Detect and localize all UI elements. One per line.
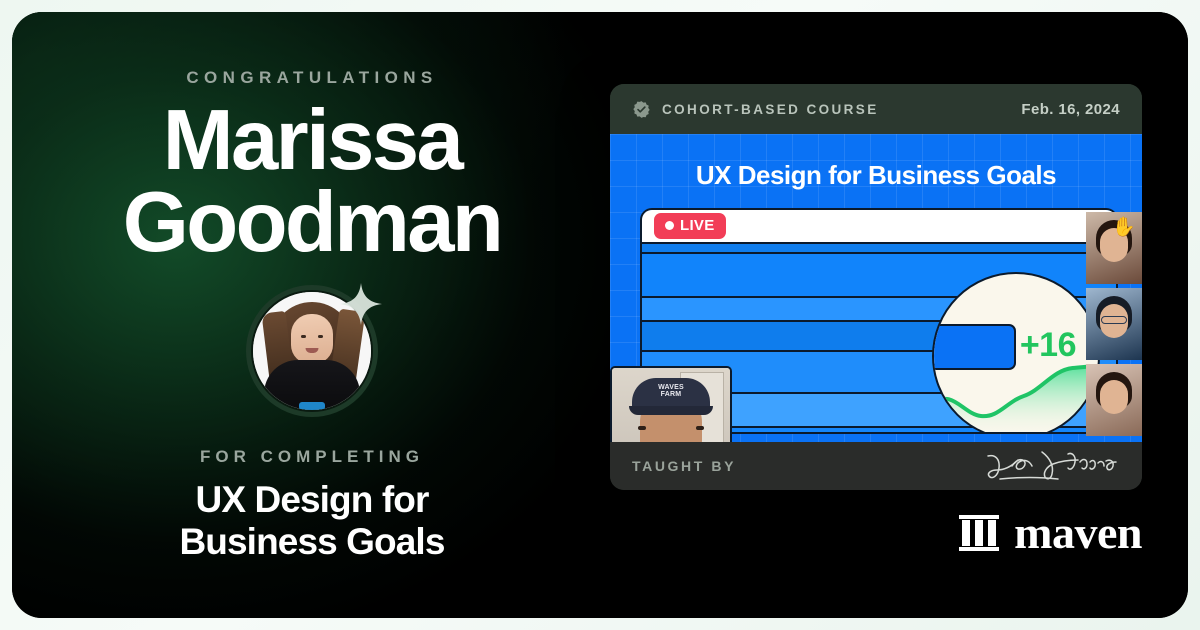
- course-screen-illustration: UX Design for Business Goals LIVE: [610, 134, 1142, 442]
- instructor-cap-brim: [629, 406, 713, 415]
- raised-hand-icon: ✋: [1112, 218, 1136, 237]
- maven-logo: maven: [958, 510, 1142, 556]
- cap-text-line2: FARM: [661, 391, 682, 398]
- recipient-name: Marissa Goodman: [123, 100, 501, 263]
- avatar-face: [291, 314, 333, 364]
- card-footer: Taught By Joe Formica: [610, 442, 1142, 490]
- outer-frame: Congratulations Marissa Goodman: [0, 0, 1200, 630]
- avatar-accent: [299, 402, 325, 410]
- screen-course-title: UX Design for Business Goals: [610, 160, 1142, 191]
- course-title-line2: Business Goals: [179, 521, 444, 563]
- participant-tile: [1086, 288, 1142, 360]
- participant-face: [1100, 380, 1128, 414]
- content-bar: [642, 244, 1116, 254]
- live-dot-icon: [665, 221, 674, 230]
- course-title: UX Design for Business Goals: [179, 479, 444, 563]
- live-badge: LIVE: [654, 213, 726, 239]
- growth-wave-chart: [934, 360, 1098, 434]
- instructor-signature: Joe Formica: [980, 446, 1120, 486]
- participant-tiles: ✋: [1086, 212, 1142, 440]
- congratulations-kicker: Congratulations: [186, 68, 437, 88]
- cohort-based-course-label: Cohort-Based Course: [662, 102, 879, 117]
- instructor-eye-right: [696, 426, 704, 430]
- instructor-eye-left: [638, 426, 646, 430]
- meeting-toolbar: LIVE: [642, 210, 1116, 244]
- certificate-stage: Congratulations Marissa Goodman: [12, 12, 1188, 618]
- avatar-eye-left: [301, 335, 306, 338]
- attendee-overflow-circle: +16: [932, 272, 1100, 434]
- for-completing-label: For Completing: [200, 447, 424, 467]
- course-preview-card: Cohort-Based Course Feb. 16, 2024 UX Des…: [610, 84, 1142, 490]
- maven-wordmark: maven: [1014, 510, 1142, 556]
- instructor-cap-text: WAVES FARM: [658, 384, 684, 398]
- recipient-last-name: Goodman: [123, 182, 501, 264]
- cap-text-line1: WAVES: [658, 384, 684, 391]
- course-date: Feb. 16, 2024: [1021, 101, 1120, 118]
- certificate-left-column: Congratulations Marissa Goodman: [12, 12, 612, 618]
- recipient-first-name: Marissa: [123, 100, 501, 182]
- avatar-mouth: [306, 348, 319, 353]
- verified-badge-icon: [632, 100, 651, 119]
- course-title-line1: UX Design for: [179, 479, 444, 521]
- instructor-webcam-tile: WAVES FARM: [610, 366, 732, 442]
- participant-glasses: [1101, 316, 1127, 324]
- maven-pillar-icon: [958, 513, 1000, 553]
- avatar: [246, 285, 378, 417]
- participant-tile: ✋: [1086, 212, 1142, 284]
- live-badge-label: LIVE: [680, 217, 715, 234]
- card-header: Cohort-Based Course Feb. 16, 2024: [610, 84, 1142, 134]
- sparkle-icon: [338, 281, 384, 327]
- taught-by-label: Taught By: [632, 458, 736, 474]
- avatar-eye-right: [318, 335, 323, 338]
- participant-tile: [1086, 364, 1142, 436]
